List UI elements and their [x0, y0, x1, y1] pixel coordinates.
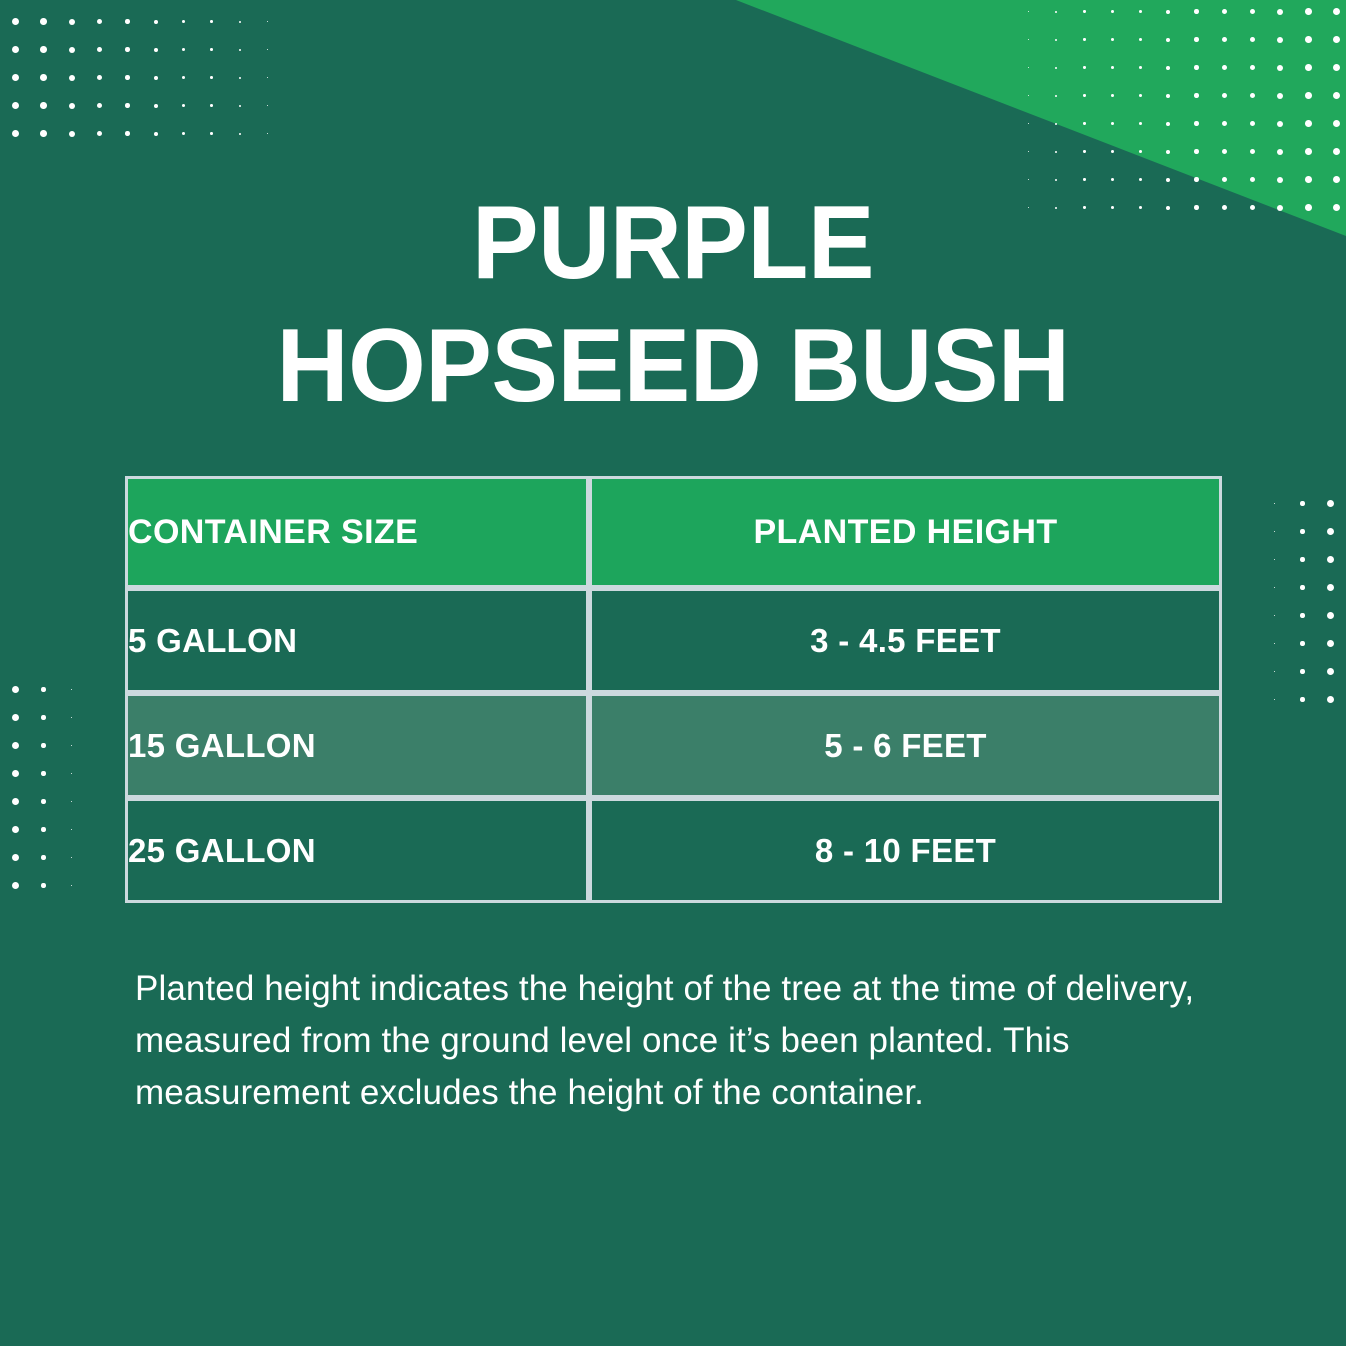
- specs-table-head: CONTAINER SIZE PLANTED HEIGHT: [125, 476, 1222, 588]
- dot-grid-right-icon: [1271, 500, 1334, 703]
- cell-container-size: 5 GALLON: [125, 588, 589, 693]
- poster-canvas: PURPLE HOPSEED BUSH CONTAINER SIZE PLANT…: [0, 0, 1346, 1346]
- planted-height-note: Planted height indicates the height of t…: [135, 963, 1225, 1118]
- table-header-row: CONTAINER SIZE PLANTED HEIGHT: [125, 476, 1222, 588]
- table-row: 5 GALLON 3 - 4.5 FEET: [125, 588, 1222, 693]
- cell-planted-height: 3 - 4.5 FEET: [589, 588, 1222, 693]
- specs-table-body: 5 GALLON 3 - 4.5 FEET 15 GALLON 5 - 6 FE…: [125, 588, 1222, 903]
- specs-table-wrapper: CONTAINER SIZE PLANTED HEIGHT 5 GALLON 3…: [125, 476, 1222, 903]
- cell-container-size: 25 GALLON: [125, 798, 589, 903]
- cell-container-size: 15 GALLON: [125, 693, 589, 798]
- cell-planted-height: 8 - 10 FEET: [589, 798, 1222, 903]
- title-line-1: PURPLE: [85, 182, 1262, 305]
- cell-planted-height: 5 - 6 FEET: [589, 693, 1222, 798]
- table-row: 15 GALLON 5 - 6 FEET: [125, 693, 1222, 798]
- title-line-2: HOPSEED BUSH: [85, 305, 1262, 428]
- dot-grid-top-left-icon: [12, 18, 271, 137]
- column-header-container-size: CONTAINER SIZE: [125, 476, 589, 588]
- column-header-planted-height: PLANTED HEIGHT: [589, 476, 1222, 588]
- dot-grid-left-icon: [12, 686, 75, 889]
- specs-table: CONTAINER SIZE PLANTED HEIGHT 5 GALLON 3…: [125, 476, 1222, 903]
- page-title: PURPLE HOPSEED BUSH: [0, 182, 1346, 427]
- table-row: 25 GALLON 8 - 10 FEET: [125, 798, 1222, 903]
